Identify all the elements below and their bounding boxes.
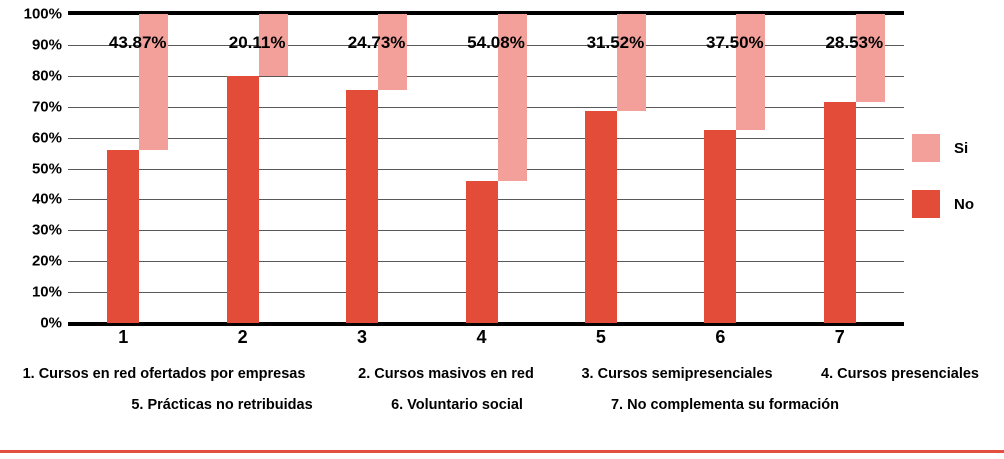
legend-item-no[interactable]: No [912, 190, 974, 218]
bar-si[interactable] [617, 14, 646, 111]
y-tick-label: 20% [0, 254, 62, 269]
plot-area: 43.87%20.11%24.73%54.08%31.52%37.50%28.5… [68, 14, 904, 323]
category-legend-row-2: 5. Prácticas no retribuidas6. Voluntario… [0, 397, 1004, 421]
y-tick-label: 40% [0, 192, 62, 207]
y-tick-label: 100% [0, 7, 62, 22]
y-axis: 100%90%80%70%60%50%40%30%20%10%0% [0, 0, 68, 330]
x-tick-label: 4 [476, 327, 486, 348]
bar-group [107, 14, 168, 323]
category-legend-item: 2. Cursos masivos en red [358, 366, 534, 382]
bottom-divider [0, 450, 1004, 453]
bar-si[interactable] [736, 14, 765, 130]
x-tick-label: 2 [238, 327, 248, 348]
y-tick-label: 60% [0, 130, 62, 145]
bar-value-label: 24.73% [348, 34, 406, 51]
x-tick-label: 7 [835, 327, 845, 348]
legend-swatch-no-icon [912, 190, 940, 218]
category-legend-item: 4. Cursos presenciales [821, 366, 979, 382]
bar-group [227, 14, 288, 323]
bar-group [346, 14, 407, 323]
category-legend-item: 3. Cursos semipresenciales [581, 366, 772, 382]
bar-no[interactable] [466, 181, 498, 323]
y-tick-label: 50% [0, 161, 62, 176]
bar-si[interactable] [378, 14, 407, 90]
bar-no[interactable] [585, 111, 617, 323]
x-axis-ticks: 1234567 [68, 327, 904, 355]
x-tick-label: 3 [357, 327, 367, 348]
bar-value-label: 20.11% [229, 34, 286, 51]
bar-value-label: 43.87% [109, 34, 167, 51]
y-tick-label: 30% [0, 223, 62, 238]
y-tick-label: 80% [0, 68, 62, 83]
category-legend-item: 1. Cursos en red ofertados por empresas [23, 366, 306, 382]
bar-value-label: 28.53% [825, 34, 883, 51]
legend-item-si[interactable]: Si [912, 134, 968, 162]
bar-group [704, 14, 765, 323]
bar-group [824, 14, 885, 323]
bar-value-label: 37.50% [706, 34, 764, 51]
bar-si[interactable] [856, 14, 885, 102]
bar-no[interactable] [704, 130, 736, 323]
legend-label-si: Si [954, 140, 968, 157]
category-legend-row-1: 1. Cursos en red ofertados por empresas2… [0, 366, 1004, 390]
y-tick-label: 10% [0, 285, 62, 300]
bar-no[interactable] [107, 150, 139, 323]
bar-group [585, 14, 646, 323]
y-tick-label: 0% [0, 316, 62, 331]
bar-no[interactable] [824, 102, 856, 323]
bar-no[interactable] [346, 90, 378, 323]
category-legend-item: 7. No complementa su formación [611, 397, 839, 413]
chart-legend: Si No [912, 134, 1004, 234]
bar-value-label: 31.52% [587, 34, 645, 51]
bar-no[interactable] [227, 76, 259, 323]
legend-label-no: No [954, 196, 974, 213]
y-tick-label: 90% [0, 37, 62, 52]
chart-container: 100%90%80%70%60%50%40%30%20%10%0% 43.87%… [0, 0, 1004, 459]
bar-group [466, 14, 527, 323]
legend-swatch-si-icon [912, 134, 940, 162]
x-tick-label: 1 [118, 327, 128, 348]
bar-value-label: 54.08% [467, 34, 525, 51]
category-legend-item: 5. Prácticas no retribuidas [131, 397, 312, 413]
x-tick-label: 6 [715, 327, 725, 348]
category-legend-item: 6. Voluntario social [391, 397, 523, 413]
y-tick-label: 70% [0, 99, 62, 114]
x-tick-label: 5 [596, 327, 606, 348]
